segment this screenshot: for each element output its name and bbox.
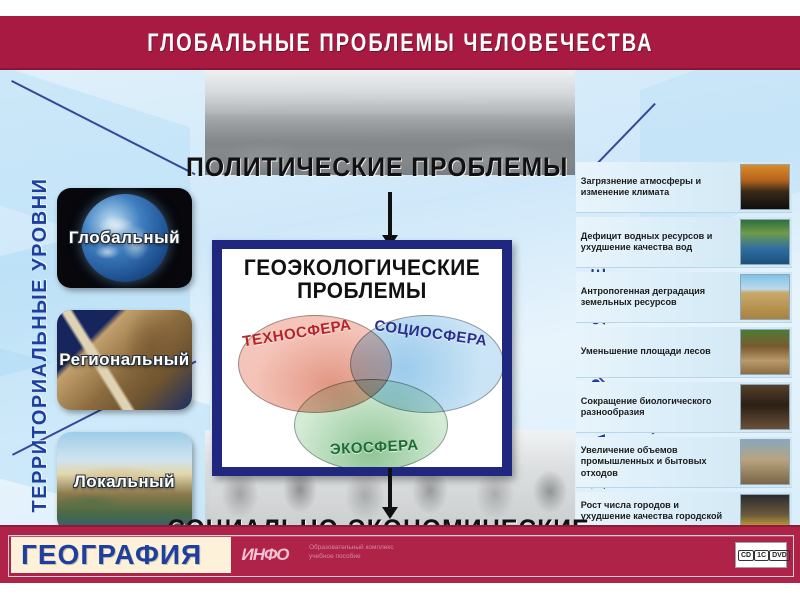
manifestation-list: Загрязнение атмосферы и изменение климат… bbox=[576, 162, 792, 525]
list-item[interactable]: Дефицит водных ресурсов и ухудшение каче… bbox=[576, 217, 792, 268]
social-economic-label-line1: СОЦИАЛЬНО-ЭКОНОМИЧЕСКИЕ bbox=[167, 514, 563, 525]
manifestation-thumb bbox=[740, 384, 790, 430]
manifestation-text: Загрязнение атмосферы и изменение климат… bbox=[576, 176, 733, 199]
fine-print-line2: учебное пособие bbox=[309, 552, 639, 561]
political-problems-label: ПОЛИТИЧЕСКИЕ ПРОБЛЕМЫ bbox=[186, 152, 554, 183]
list-item[interactable]: Сокращение биологического разнообразия bbox=[576, 382, 792, 433]
panel-inner: ГЕОЭКОЛОГИЧЕСКИЕ ПРОБЛЕМЫ ТЕХНОСФЕРА СОЦ… bbox=[222, 249, 502, 467]
list-item[interactable]: Уменьшение площади лесов bbox=[576, 327, 792, 378]
list-item[interactable]: Увеличение объемов промышленных и бытовы… bbox=[576, 437, 792, 488]
bottom-banner: ГЕОГРАФИЯ ИНФО Образовательный комплекс … bbox=[0, 525, 800, 583]
social-economic-problems-heading: СОЦИАЛЬНО-ЭКОНОМИЧЕСКИЕ ПРОБЛЕМЫ bbox=[150, 514, 580, 525]
geoecological-problems-panel[interactable]: ГЕОЭКОЛОГИЧЕСКИЕ ПРОБЛЕМЫ ТЕХНОСФЕРА СОЦ… bbox=[212, 240, 512, 476]
manifestation-thumb bbox=[740, 329, 790, 375]
banner-inner: ГЕОГРАФИЯ ИНФО Образовательный комплекс … bbox=[8, 535, 794, 577]
badge-cell-dvd: DVD bbox=[769, 550, 790, 561]
level-thumb-regional[interactable]: Региональный bbox=[57, 310, 192, 410]
poster-root: ГЛОБАЛЬНЫЕ ПРОБЛЕМЫ ЧЕЛОВЕЧЕСТВА ПОЛИТИЧ… bbox=[0, 0, 800, 600]
panel-title: ГЕОЭКОЛОГИЧЕСКИЕ ПРОБЛЕМЫ bbox=[229, 256, 495, 302]
level-label-regional: Региональный bbox=[59, 350, 190, 370]
manifestation-text: Дефицит водных ресурсов и ухудшение каче… bbox=[576, 231, 733, 254]
territorial-levels-label: ТЕРРИТОРИАЛЬНЫЕ УРОВНИ bbox=[29, 175, 55, 515]
publisher-logo-text: ИНФО bbox=[242, 545, 289, 565]
subject-label: ГЕОГРАФИЯ bbox=[11, 539, 202, 571]
political-problems-heading: ПОЛИТИЧЕСКИЕ ПРОБЛЕМЫ bbox=[170, 152, 570, 183]
list-item[interactable]: Рост числа городов и ухудшение качества … bbox=[576, 492, 792, 525]
manifestation-thumb bbox=[740, 439, 790, 485]
level-thumb-local[interactable]: Локальный bbox=[57, 432, 192, 525]
fine-print-line1: Образовательный комплекс bbox=[309, 543, 639, 552]
manifestation-thumb bbox=[740, 219, 790, 265]
subject-plate: ГЕОГРАФИЯ bbox=[11, 537, 231, 573]
manifestation-thumb bbox=[740, 494, 790, 525]
panel-title-line2: ПРОБЛЕМЫ bbox=[297, 278, 427, 303]
level-thumb-global[interactable]: Глобальный bbox=[57, 188, 192, 288]
banner-fine-print: Образовательный комплекс учебное пособие bbox=[309, 543, 639, 561]
arrow-down-icon bbox=[388, 192, 392, 236]
media-badge: CD 1С DVD bbox=[735, 542, 787, 568]
panel-title-line1: ГЕОЭКОЛОГИЧЕСКИЕ bbox=[244, 255, 480, 280]
manifestation-text: Уменьшение площади лесов bbox=[576, 346, 733, 358]
manifestation-text: Увеличение объемов промышленных и бытовы… bbox=[576, 445, 733, 480]
list-item[interactable]: Антропогенная деградация земельных ресур… bbox=[576, 272, 792, 323]
manifestation-thumb bbox=[740, 164, 790, 210]
level-label-local: Локальный bbox=[74, 472, 175, 492]
manifestation-text: Сокращение биологического разнообразия bbox=[576, 396, 733, 419]
publisher-logo[interactable]: ИНФО bbox=[237, 540, 293, 570]
page-title: ГЛОБАЛЬНЫЕ ПРОБЛЕМЫ ЧЕЛОВЕЧЕСТВА bbox=[147, 29, 653, 58]
badge-cell-cd: CD bbox=[738, 550, 754, 561]
manifestation-thumb bbox=[740, 274, 790, 320]
manifestation-text: Антропогенная деградация земельных ресур… bbox=[576, 286, 733, 309]
list-item[interactable]: Загрязнение атмосферы и изменение климат… bbox=[576, 162, 792, 213]
manifestation-text: Рост числа городов и ухудшение качества … bbox=[576, 500, 733, 525]
poster-title-bar: ГЛОБАЛЬНЫЕ ПРОБЛЕМЫ ЧЕЛОВЕЧЕСТВА bbox=[0, 16, 800, 70]
arrow-down-icon bbox=[388, 468, 392, 508]
level-label-global: Глобальный bbox=[69, 228, 180, 248]
spheres-venn-diagram: ТЕХНОСФЕРА СОЦИОСФЕРА ЭКОСФЕРА bbox=[222, 311, 502, 467]
badge-cell-1c: 1С bbox=[754, 550, 769, 561]
poster-body: ПОЛИТИЧЕСКИЕ ПРОБЛЕМЫ ТЕРРИТОРИАЛЬНЫЕ УР… bbox=[0, 70, 800, 525]
